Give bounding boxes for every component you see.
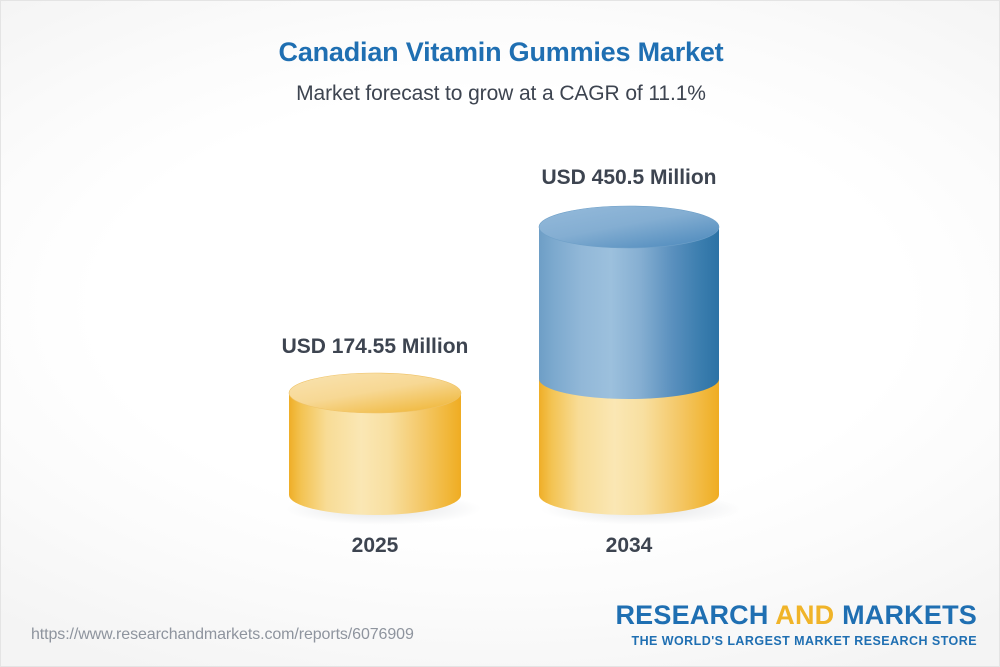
chart-canvas: Canadian Vitamin Gummies Market Market f… [0,0,1000,667]
chart-plot-area: USD 174.55 Million 2025 USD 450.5 Millio… [1,1,1000,667]
brand-logo-markets: MARKETS [842,600,977,630]
bar-cylinder-2025[interactable] [271,369,491,534]
brand-logo-wordmark: RESEARCH AND MARKETS [615,602,977,629]
bar-top-2034 [539,206,719,248]
brand-logo[interactable]: RESEARCH AND MARKETS THE WORLD'S LARGEST… [615,602,977,648]
bar-body-lower-2034 [539,379,719,515]
bar-category-label-2025: 2025 [255,534,495,558]
source-url[interactable]: https://www.researchandmarkets.com/repor… [31,626,414,644]
bar-value-label-2034: USD 450.5 Million [469,166,789,190]
brand-logo-research: RESEARCH [615,600,775,630]
bar-value-label-2025: USD 174.55 Million [215,335,535,359]
brand-logo-tagline: THE WORLD'S LARGEST MARKET RESEARCH STOR… [615,634,977,648]
brand-logo-and: AND [775,600,842,630]
bar-cylinder-2034[interactable] [521,197,751,537]
bar-category-label-2034: 2034 [509,534,749,558]
bar-top-2025 [289,373,461,413]
bar-body-upper-2034 [539,227,719,399]
